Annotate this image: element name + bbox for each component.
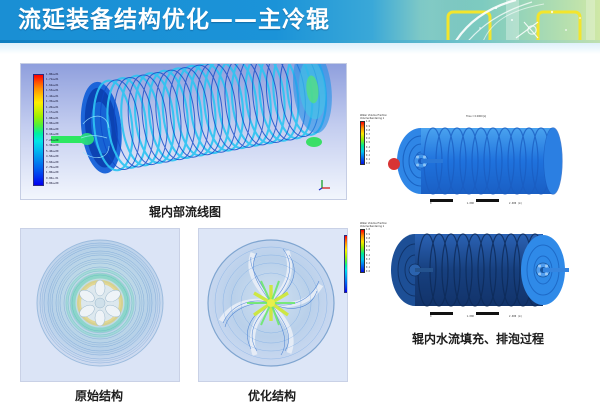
- legend-tick-labels: 1.0 0.9 0.8 0.7 0.6 0.5 0.4 0.3 0.2 0.1 …: [366, 121, 370, 165]
- scalebar-label: 2.000 (m): [509, 315, 522, 318]
- colorbar-tick: 2.70e+00: [46, 167, 59, 170]
- vof-bottom-render: [357, 218, 595, 323]
- legend-tick: 0.2: [366, 263, 370, 265]
- vof-bottom-legend: Water Volume Fraction Volume Rendering 1…: [360, 222, 390, 273]
- legend-tick: 0.7: [366, 242, 370, 244]
- caption-section-optimized: 优化结构: [212, 387, 332, 404]
- colorbar-tick: 7.20e+00: [46, 140, 59, 143]
- scalebar-label: 2.000 (m): [509, 202, 522, 205]
- colorbar-tick: 9.00e+00: [46, 129, 59, 132]
- legend-tick: 0.3: [366, 259, 370, 261]
- slide-title-bar: 流延装备结构优化——主冷辊: [0, 0, 600, 40]
- vof-top-plot-title: Time = 0.0000 [s]: [357, 115, 595, 118]
- scalebar-label: 1.000: [467, 202, 474, 205]
- title-glow-band: [0, 43, 600, 54]
- legend-tick: 0.4: [366, 147, 370, 149]
- colorbar-tick: 9.90e+00: [46, 123, 59, 126]
- vof-top-render: [357, 110, 595, 210]
- colorbar-tick: 0.00e+00: [46, 183, 59, 186]
- legend-tick: 0.4: [366, 255, 370, 257]
- colorbar-tick: 8.10e+00: [46, 134, 59, 137]
- legend-tick: 0.9: [366, 126, 370, 128]
- colorbar-tick-labels: 1.80e+01 1.71e+01 1.62e+01 1.53e+01 1.44…: [46, 74, 59, 186]
- page-title: 流延装备结构优化——主冷辊: [18, 4, 330, 36]
- legend-tick: 0.5: [366, 142, 370, 144]
- colorbar-gradient: [33, 74, 44, 186]
- scalebar-label: 1.000: [467, 315, 474, 318]
- colorbar-tick: 1.62e+01: [46, 85, 59, 88]
- legend-tick: 0.6: [366, 138, 370, 140]
- colorbar-tick: 1.80e+01: [46, 74, 59, 77]
- colorbar-tick: 6.30e+00: [46, 145, 59, 148]
- colorbar-tick: 3.60e+00: [46, 162, 59, 165]
- axis-triad-icon: [318, 177, 332, 191]
- scalebar-label: 0: [430, 315, 431, 318]
- vof-top-scalebar: 0 1.000 2.000 (m): [430, 199, 522, 205]
- figure-section-optimized: [198, 228, 348, 382]
- legend-title-line2: Volume Rendering 1: [360, 225, 390, 228]
- legend-tick-labels: 1.0 0.9 0.8 0.7 0.6 0.5 0.4 0.3 0.2 0.1 …: [366, 229, 370, 273]
- figure-streamline-roller: 1.80e+01 1.71e+01 1.62e+01 1.53e+01 1.44…: [20, 63, 347, 200]
- legend-tick: 0.5: [366, 250, 370, 252]
- vof-bottom-scalebar: 0 1.000 2.000 (m): [430, 312, 522, 318]
- legend-tick: 0.7: [366, 134, 370, 136]
- legend-tick: 1.0: [366, 229, 370, 231]
- legend-tick: 0.9: [366, 234, 370, 236]
- section-optimized-colorbar: [344, 235, 348, 293]
- colorbar-tick: 1.08e+01: [46, 118, 59, 121]
- legend-gradient: [360, 121, 365, 165]
- vof-top-legend: Water Volume Fraction Volume Rendering 1…: [360, 114, 390, 165]
- colorbar-tick: 9.00e-01: [46, 178, 59, 181]
- scalebar-labels: 0 1.000 2.000 (m): [430, 315, 522, 318]
- legend-tick: 0.6: [366, 246, 370, 248]
- streamline-colorbar: 1.80e+01 1.71e+01 1.62e+01 1.53e+01 1.44…: [33, 74, 77, 186]
- colorbar-tick: 1.26e+01: [46, 107, 59, 110]
- slide-root: 流延装备结构优化——主冷辊: [0, 0, 600, 413]
- legend-tick: 0.0: [366, 271, 370, 273]
- colorbar-tick: 4.50e+00: [46, 156, 59, 159]
- legend-tick: 0.1: [366, 159, 370, 161]
- caption-vof-bottom: 辊内水流填充、排泡过程: [393, 330, 563, 347]
- colorbar-tick: 1.80e+00: [46, 172, 59, 175]
- section-original-render: [21, 229, 179, 381]
- figure-vof-top: Water Volume Fraction Volume Rendering 1…: [357, 110, 595, 210]
- caption-section-original: 原始结构: [39, 387, 159, 404]
- figure-vof-bottom: Water Volume Fraction Volume Rendering 1…: [357, 218, 595, 323]
- scalebar-labels: 0 1.000 2.000 (m): [430, 202, 522, 205]
- section-optimized-render: [199, 229, 347, 381]
- colorbar-tick: 1.53e+01: [46, 90, 59, 93]
- legend-tick: 0.2: [366, 155, 370, 157]
- colorbar-gradient: [344, 235, 348, 293]
- legend-tick: 1.0: [366, 121, 370, 123]
- caption-streamline: 辊内部流线图: [110, 203, 260, 220]
- colorbar-tick: 1.71e+01: [46, 79, 59, 82]
- legend-tick: 0.0: [366, 163, 370, 165]
- legend-tick: 0.1: [366, 267, 370, 269]
- figure-section-original: [20, 228, 180, 382]
- colorbar-tick: 5.40e+00: [46, 151, 59, 154]
- legend-tick: 0.3: [366, 151, 370, 153]
- title-bar-decoration: [420, 0, 600, 40]
- colorbar-tick: 1.17e+01: [46, 112, 59, 115]
- legend-tick: 0.8: [366, 238, 370, 240]
- colorbar-tick: 1.44e+01: [46, 96, 59, 99]
- colorbar-tick: 1.35e+01: [46, 101, 59, 104]
- scalebar-label: 0: [430, 202, 431, 205]
- legend-gradient: [360, 229, 365, 273]
- legend-tick: 0.8: [366, 130, 370, 132]
